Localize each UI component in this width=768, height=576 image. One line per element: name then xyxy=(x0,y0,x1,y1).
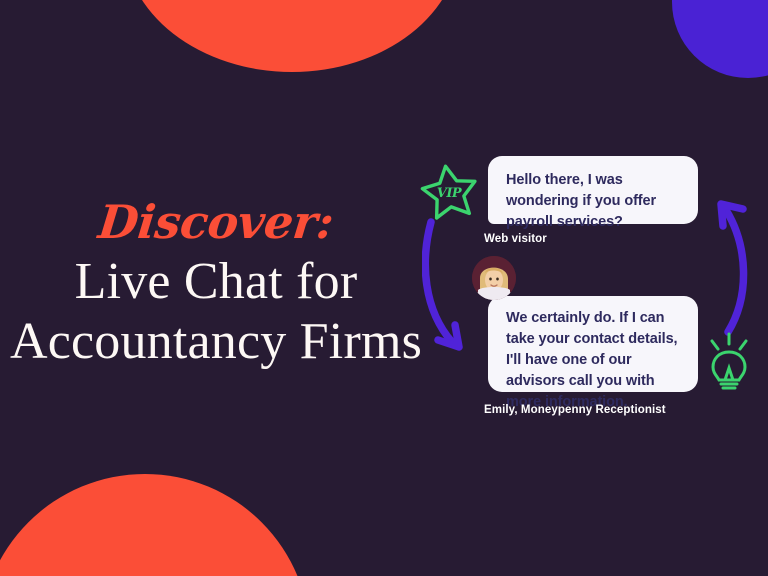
curved-arrow-up xyxy=(706,196,760,336)
curved-arrow-up-icon xyxy=(706,196,760,336)
emily-avatar xyxy=(472,256,516,300)
chat-caption-agent: Emily, Moneypenny Receptionist xyxy=(484,404,666,416)
avatar-photo xyxy=(472,256,516,300)
chat-bubble-visitor-text: Hello there, I was wondering if you offe… xyxy=(506,172,656,230)
orange-circle-bottom xyxy=(0,474,310,576)
chat-bubble-agent: We certainly do. If I can take your cont… xyxy=(488,296,698,392)
lightbulb-icon xyxy=(700,330,758,392)
vip-star-badge: VIP xyxy=(418,160,480,222)
chat-bubble-visitor: Hello there, I was wondering if you offe… xyxy=(488,156,698,224)
orange-circle-top xyxy=(124,0,460,72)
headline-script-line: Discover: xyxy=(0,196,435,248)
chat-caption-visitor: Web visitor xyxy=(484,233,547,245)
page-title: Live Chat for Accountancy Firms xyxy=(0,252,432,372)
lightbulb-accent xyxy=(700,330,758,392)
chat-bubble-agent-text: We certainly do. If I can take your cont… xyxy=(506,310,677,410)
curved-arrow-down-icon xyxy=(422,218,474,364)
violet-circle-top-right xyxy=(672,0,768,78)
headline-line-1: Live Chat for xyxy=(0,252,432,312)
headline-block: Discover: Live Chat for Accountancy Firm… xyxy=(0,196,432,372)
curved-arrow-down xyxy=(422,218,474,364)
vip-badge-label: VIP xyxy=(418,160,480,222)
headline-line-2: Accountancy Firms xyxy=(0,312,432,372)
slide-canvas: Discover: Live Chat for Accountancy Firm… xyxy=(0,0,768,576)
